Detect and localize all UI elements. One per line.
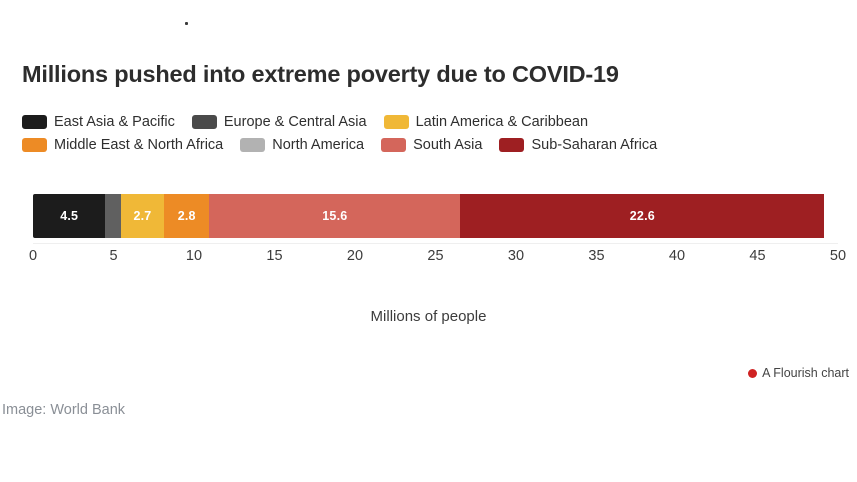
x-axis-tick-30: 30 xyxy=(508,248,524,264)
legend-row-1: East Asia & PacificEurope & Central Asia… xyxy=(22,110,842,133)
legend-item-east-asia-pacific[interactable]: East Asia & Pacific xyxy=(22,114,175,130)
x-axis-title: Millions of people xyxy=(0,308,857,325)
legend-swatch-icon xyxy=(192,115,217,129)
bar-segment-latin-america-caribbean[interactable]: 2.7 xyxy=(121,194,164,238)
bar-segment-value-label: 2.8 xyxy=(178,209,196,223)
bar-segment-value-label: 15.6 xyxy=(322,209,347,223)
legend-item-latin-america-caribbean[interactable]: Latin America & Caribbean xyxy=(384,114,589,130)
x-axis-tick-5: 5 xyxy=(109,248,117,264)
legend-row-2: Middle East & North AfricaNorth AmericaS… xyxy=(22,133,842,156)
flourish-credit-label: A Flourish chart xyxy=(762,366,849,380)
legend-swatch-icon xyxy=(240,138,265,152)
x-axis-tick-15: 15 xyxy=(266,248,282,264)
legend-swatch-icon xyxy=(381,138,406,152)
chart-plot-area: 4.52.72.815.622.6 xyxy=(33,194,838,238)
legend-item-label: Latin America & Caribbean xyxy=(416,114,589,130)
image-artifact-speck xyxy=(185,22,188,25)
legend-item-label: South Asia xyxy=(413,137,482,153)
chart-title: Millions pushed into extreme poverty due… xyxy=(22,61,619,88)
bar-segment-value-label: 2.7 xyxy=(133,209,151,223)
bar-segment-sub-saharan-africa[interactable]: 22.6 xyxy=(460,194,824,238)
source-caption: Image: World Bank xyxy=(2,402,125,418)
legend-item-label: Europe & Central Asia xyxy=(224,114,367,130)
x-axis-tick-20: 20 xyxy=(347,248,363,264)
x-axis-tick-labels: 05101520253035404550 xyxy=(33,248,838,270)
legend-item-europe-central-asia[interactable]: Europe & Central Asia xyxy=(192,114,367,130)
legend-item-sub-saharan-africa[interactable]: Sub-Saharan Africa xyxy=(499,137,657,153)
bar-segment-east-asia-pacific[interactable]: 4.5 xyxy=(33,194,105,238)
stacked-bar: 4.52.72.815.622.6 xyxy=(33,194,838,238)
x-axis-line xyxy=(33,243,838,244)
chart-screenshot: Millions pushed into extreme poverty due… xyxy=(0,0,857,482)
x-axis-tick-10: 10 xyxy=(186,248,202,264)
bar-segment-value-label: 22.6 xyxy=(630,209,655,223)
x-axis-tick-25: 25 xyxy=(427,248,443,264)
flourish-dot-icon xyxy=(748,369,757,378)
legend-item-north-america[interactable]: North America xyxy=(240,137,364,153)
flourish-credit[interactable]: A Flourish chart xyxy=(748,366,849,380)
legend-swatch-icon xyxy=(499,138,524,152)
bar-segment-south-asia[interactable]: 15.6 xyxy=(209,194,460,238)
chart-legend: East Asia & PacificEurope & Central Asia… xyxy=(22,110,842,156)
bar-segment-value-label: 4.5 xyxy=(60,209,78,223)
legend-swatch-icon xyxy=(384,115,409,129)
x-axis-tick-50: 50 xyxy=(830,248,846,264)
x-axis-tick-0: 0 xyxy=(29,248,37,264)
legend-item-south-asia[interactable]: South Asia xyxy=(381,137,482,153)
legend-item-label: Sub-Saharan Africa xyxy=(531,137,657,153)
legend-item-label: North America xyxy=(272,137,364,153)
x-axis-tick-45: 45 xyxy=(749,248,765,264)
legend-swatch-icon xyxy=(22,115,47,129)
legend-item-middle-east-north-africa[interactable]: Middle East & North Africa xyxy=(22,137,223,153)
legend-item-label: Middle East & North Africa xyxy=(54,137,223,153)
bar-segment-europe-central-asia[interactable] xyxy=(105,194,120,238)
x-axis-tick-35: 35 xyxy=(588,248,604,264)
legend-item-label: East Asia & Pacific xyxy=(54,114,175,130)
bar-segment-middle-east-north-africa[interactable]: 2.8 xyxy=(164,194,209,238)
legend-swatch-icon xyxy=(22,138,47,152)
x-axis-tick-40: 40 xyxy=(669,248,685,264)
